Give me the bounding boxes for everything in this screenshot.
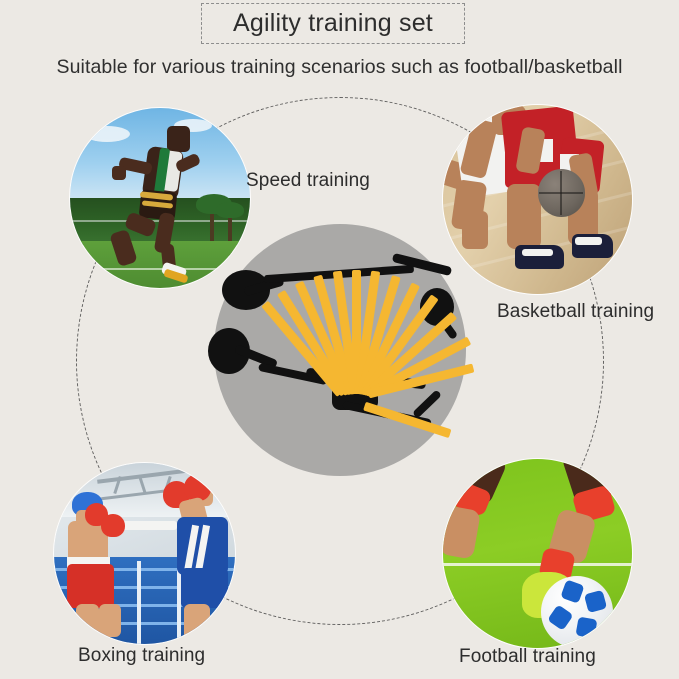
- pitch-line: [443, 563, 632, 566]
- scenario-label-football: Football training: [459, 646, 596, 668]
- soccer-ball-icon: [541, 576, 613, 648]
- basketball-icon: [538, 169, 585, 216]
- scenario-photo-boxing[interactable]: [54, 463, 235, 644]
- page-subtitle: Suitable for various training scenarios …: [0, 56, 679, 79]
- scenario-label-boxing: Boxing training: [78, 645, 205, 667]
- football-scene: [443, 459, 632, 648]
- product-infographic: Agility training set Suitable for variou…: [0, 0, 679, 679]
- boxing-scene: [54, 463, 235, 644]
- scenario-label-basketball: Basketball training: [497, 301, 654, 323]
- page-title: Agility training set: [233, 9, 433, 38]
- scenario-label-speed: Speed training: [246, 170, 370, 192]
- product-image[interactable]: [214, 224, 466, 476]
- sprinter-figure: [110, 126, 229, 281]
- scenario-photo-football[interactable]: [443, 459, 632, 648]
- title-box: Agility training set: [201, 3, 465, 44]
- scenario-photo-basketball[interactable]: [443, 105, 632, 294]
- basketball-scene: [443, 105, 632, 294]
